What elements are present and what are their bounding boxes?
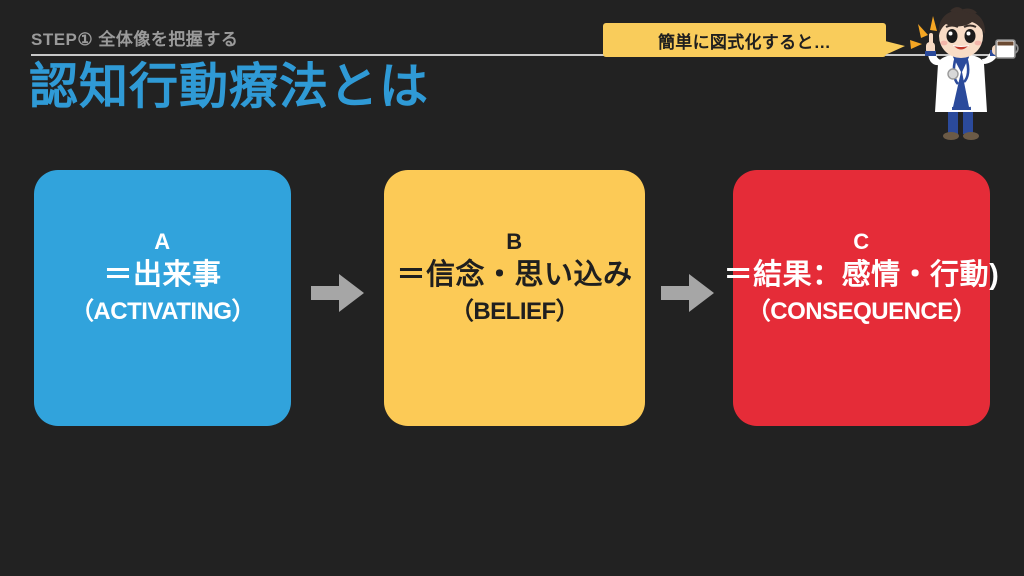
flow-card-b-main: ＝信念・思い込み (396, 256, 632, 294)
abc-flow-diagram: A ＝出来事 （ACTIVATING） B ＝信念・思い込み （BELIEF） … (0, 170, 1024, 426)
callout-bubble: 簡単に図式化すると… (603, 23, 903, 57)
callout-bubble-text: 簡単に図式化すると… (658, 28, 831, 53)
flow-card-a-english: （ACTIVATING） (70, 296, 255, 328)
slide-canvas: STEP① 全体像を把握する 認知行動療法とは 簡単に図式化すると… (0, 0, 1024, 576)
flow-card-b-letter: B (506, 228, 522, 256)
mug-icon (996, 40, 1018, 58)
doctor-character-illustration (908, 2, 1020, 142)
callout-bubble-tail (885, 41, 905, 55)
flow-card-a[interactable]: A ＝出来事 （ACTIVATING） (34, 170, 291, 426)
flow-card-a-main: ＝出来事 (103, 256, 221, 294)
arrow-right-icon-b-to-c (661, 273, 714, 313)
callout-bubble-body: 簡単に図式化すると… (603, 23, 886, 57)
step-label: STEP① 全体像を把握する (31, 25, 238, 50)
flow-card-c-letter: C (853, 228, 869, 256)
flow-card-b-english: （BELIEF） (450, 296, 579, 328)
flow-card-c-english: （CONSEQUENCE） (747, 296, 977, 328)
arrow-right-icon-a-to-b (311, 273, 364, 313)
page-title: 認知行動療法とは (29, 61, 429, 115)
flow-card-a-letter: A (154, 228, 170, 256)
flow-card-c[interactable]: C ＝結果：感情・行動) （CONSEQUENCE） (733, 170, 990, 426)
flow-card-c-main: ＝結果：感情・行動) (724, 256, 1000, 294)
flow-card-b[interactable]: B ＝信念・思い込み （BELIEF） (384, 170, 645, 426)
